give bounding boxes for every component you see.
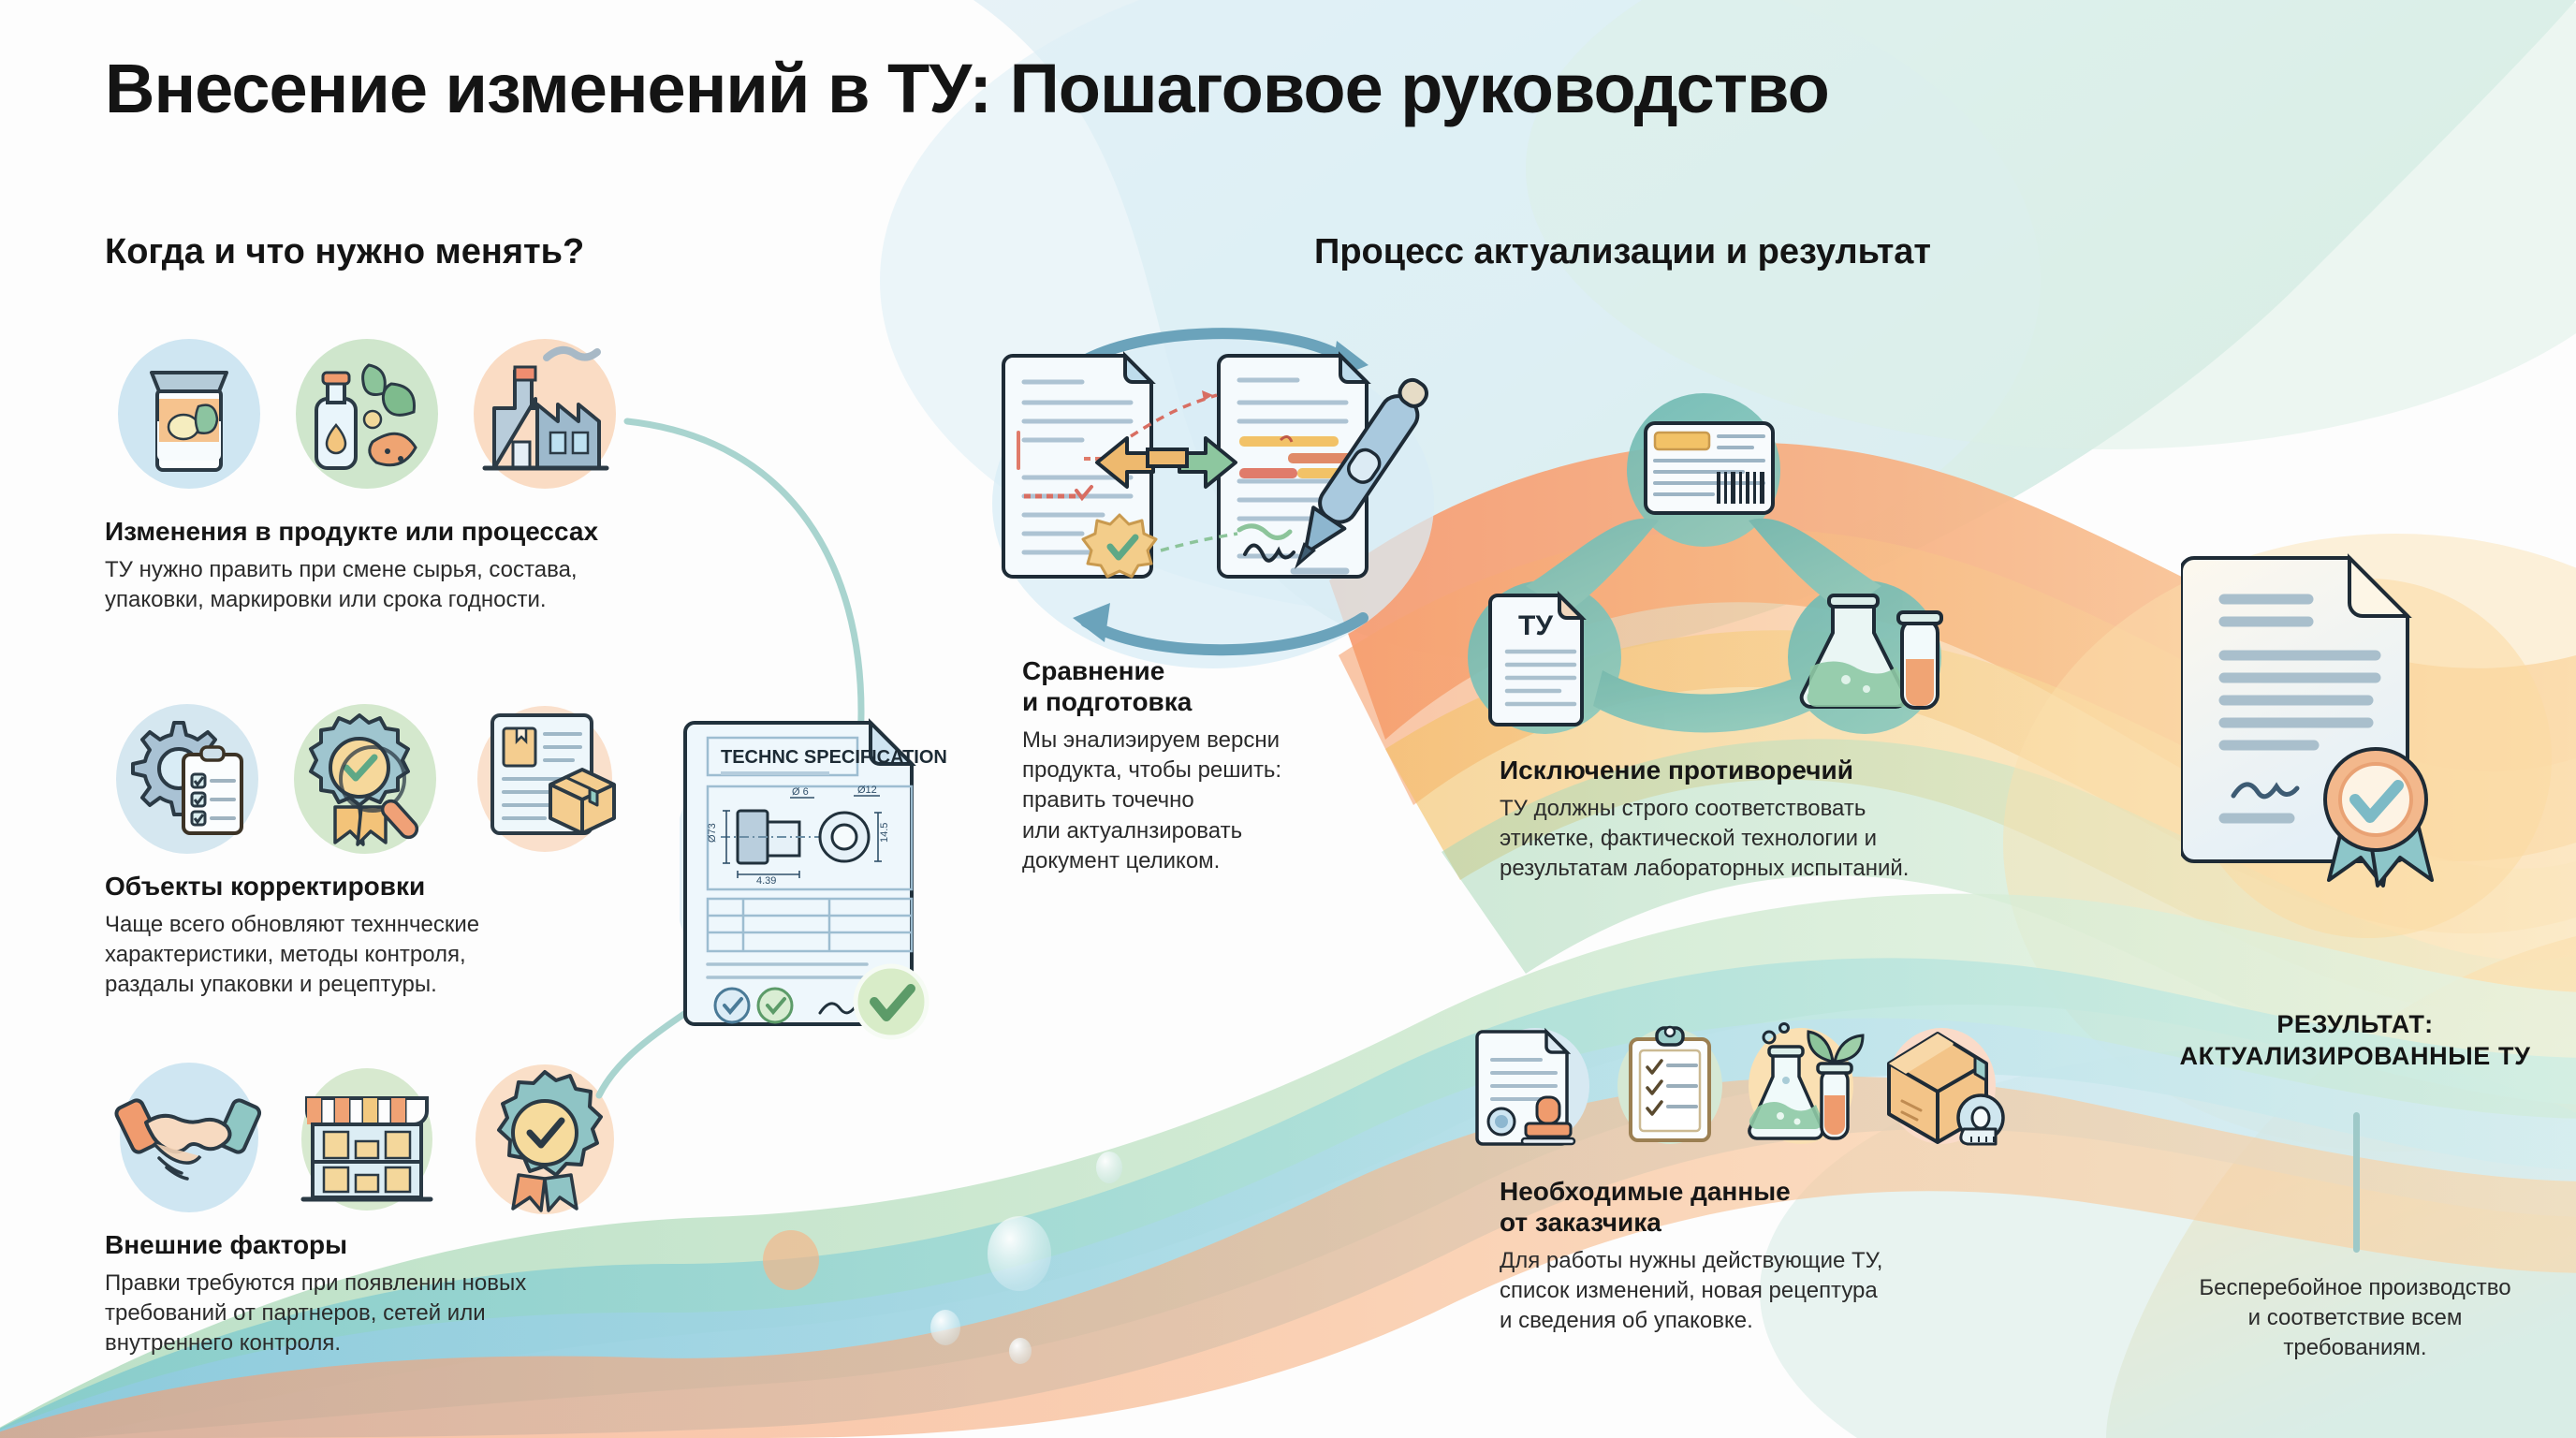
storefront-icon bbox=[283, 1053, 451, 1222]
spec-doc-header: TECHNC SPECIFICATION bbox=[721, 747, 947, 768]
checklist-clipboard-icon bbox=[1604, 1019, 1735, 1150]
block-body: Для работы нужны действующие ТУ, список … bbox=[1500, 1246, 2080, 1336]
flask-plant-icon bbox=[1739, 1019, 1870, 1150]
block-title: Исключение противоречий bbox=[1500, 755, 2080, 785]
technical-specification-document-illustration: TECHNC SPECIFICATION Ø73 4.39 Ø 6 Ø12 14… bbox=[680, 697, 970, 1043]
bottle-leaf-icon bbox=[283, 328, 451, 496]
block-title: Внешние факторы bbox=[105, 1229, 816, 1260]
section-heading-right: Процесс актуализации и результат bbox=[1314, 232, 1931, 272]
center-block-required-customer-data: Необходимые данные от заказчика Для рабо… bbox=[1500, 1176, 2080, 1337]
svg-text:Ø73: Ø73 bbox=[707, 823, 718, 843]
certified-document-rosette-illustration bbox=[2181, 545, 2555, 938]
center-block-contradiction-exclusion: Исключение противоречий ТУ должны строго… bbox=[1500, 755, 2080, 885]
svg-text:4.39: 4.39 bbox=[756, 875, 776, 887]
block-title: Необходимые данные от заказчика bbox=[1500, 1176, 2080, 1238]
section-heading-left: Когда и что нужно менять? bbox=[105, 232, 584, 272]
result-divider bbox=[2353, 1112, 2360, 1253]
block-body: Мы эналиэируем версни продукта, чтобы ре… bbox=[1022, 726, 1434, 876]
result-title: РЕЗУЛЬТАТ: АКТУАЛИЗИРОВАННЫЕ ТУ bbox=[2112, 1009, 2576, 1073]
bubble-icon bbox=[988, 1216, 1051, 1291]
quality-badge-magnifier-icon bbox=[283, 693, 451, 861]
label-spec-lab-network-illustration: ТУ bbox=[1462, 380, 1949, 755]
coffee-cup-icon bbox=[105, 328, 273, 496]
infographic-canvas: Внесение изменений в ТУ: Пошаговое руков… bbox=[0, 0, 2576, 1438]
gear-clipboard-icon bbox=[105, 693, 273, 861]
page-title: Внесение изменений в ТУ: Пошаговое руков… bbox=[105, 49, 1829, 128]
document-comparison-pen-illustration bbox=[979, 316, 1466, 672]
block-title: Сравнение и подготовка bbox=[1022, 655, 1434, 717]
svg-text:Ø 6: Ø 6 bbox=[792, 786, 809, 798]
stamped-document-icon bbox=[1470, 1019, 1601, 1150]
tu-document-label: ТУ bbox=[1518, 610, 1553, 641]
svg-text:Ø12: Ø12 bbox=[857, 785, 877, 796]
block-body: ТУ должны строго соответствовать этикетк… bbox=[1500, 794, 2080, 884]
block-body: Правки требуются при появленин новых тре… bbox=[105, 1269, 816, 1358]
left-block-external-factors: Внешние факторы Правки требуются при поя… bbox=[105, 1229, 816, 1359]
result-subtitle: Бесперебойное производство и соответстви… bbox=[2112, 1273, 2576, 1363]
box-tape-measure-icon bbox=[1874, 1019, 2014, 1150]
svg-text:14.5: 14.5 bbox=[879, 823, 890, 843]
handshake-icon bbox=[105, 1053, 273, 1222]
center-block-comparison-preparation: Сравнение и подготовка Мы эналиэируем ве… bbox=[1022, 655, 1434, 876]
